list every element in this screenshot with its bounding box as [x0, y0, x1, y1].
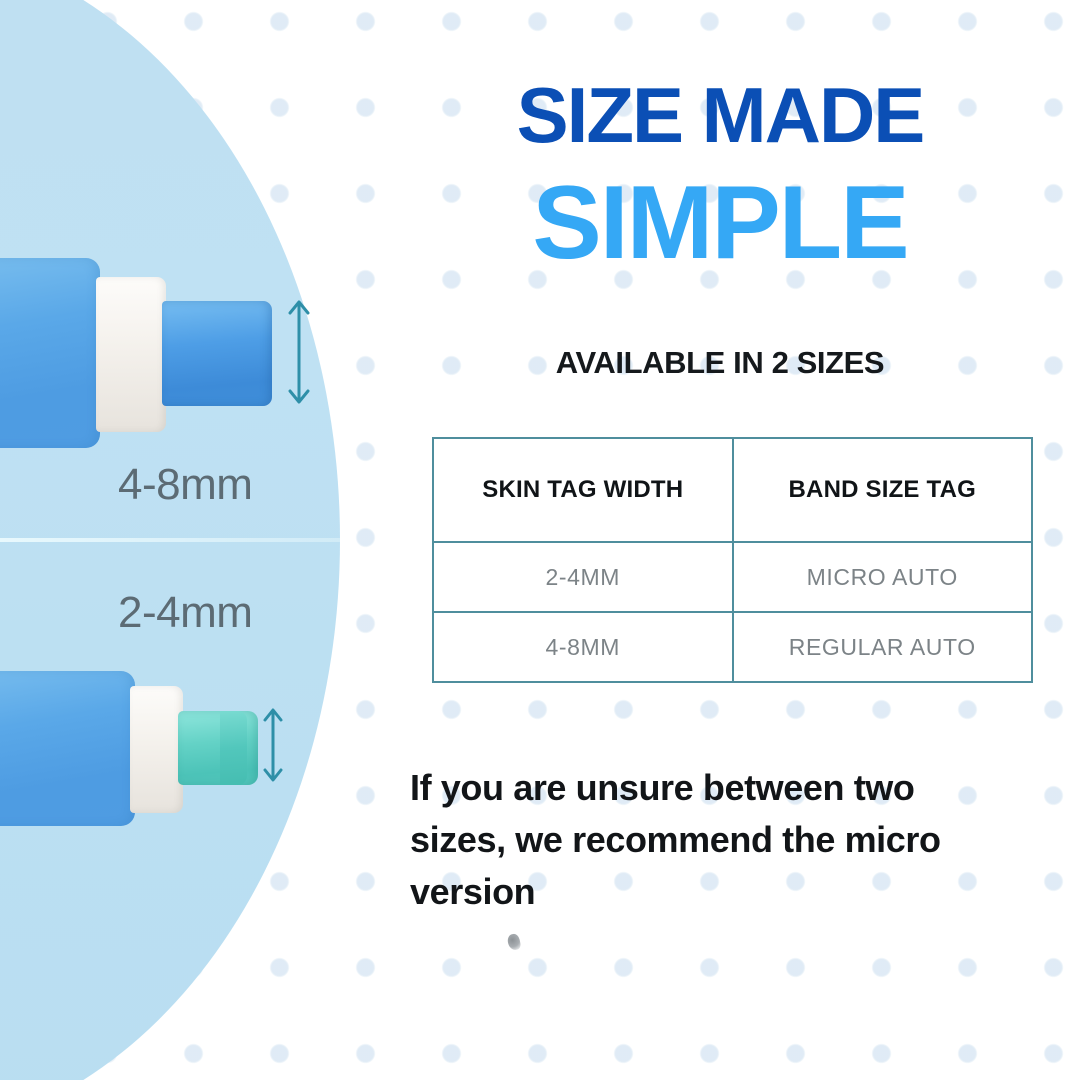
device-regular-body: [0, 258, 100, 448]
measure-arrow-regular: [283, 298, 315, 406]
cell-skin-tag-width: 2-4MM: [433, 542, 733, 612]
infographic-page: 4-8mm 2-4mm SIZE MADE SIMPLE AVAILABLE I…: [0, 0, 1080, 1080]
measure-arrow-micro: [258, 706, 288, 784]
device-micro-collar: [130, 686, 183, 813]
subheadline: AVAILABLE IN 2 SIZES: [400, 345, 1040, 381]
table-row: 2-4MM MICRO AUTO: [433, 542, 1032, 612]
image-speck-artifact: [506, 933, 521, 951]
cell-skin-tag-width: 4-8MM: [433, 612, 733, 682]
cell-band-size-tag: MICRO AUTO: [733, 542, 1033, 612]
device-micro-body: [0, 671, 135, 826]
device-micro-size-label: 2-4mm: [118, 588, 252, 638]
panel-divider: [0, 538, 340, 542]
headline-secondary: SIMPLE: [400, 174, 1040, 273]
device-micro: [0, 658, 300, 838]
device-micro-tip: [178, 711, 258, 785]
product-image-panel: [0, 0, 340, 1080]
headline-primary: SIZE MADE: [400, 78, 1040, 152]
recommendation-text: If you are unsure between two sizes, we …: [410, 762, 1010, 919]
table-row: 4-8MM REGULAR AUTO: [433, 612, 1032, 682]
device-regular-collar: [96, 277, 166, 432]
cell-band-size-tag: REGULAR AUTO: [733, 612, 1033, 682]
device-regular-size-label: 4-8mm: [118, 460, 252, 510]
size-chart-table: SKIN TAG WIDTH BAND SIZE TAG 2-4MM MICRO…: [432, 437, 1033, 683]
device-regular-tip: [162, 301, 272, 406]
table-header-row: SKIN TAG WIDTH BAND SIZE TAG: [433, 438, 1032, 542]
device-regular: [0, 253, 330, 453]
column-header-skin-tag-width: SKIN TAG WIDTH: [433, 438, 733, 542]
column-header-band-size-tag: BAND SIZE TAG: [733, 438, 1033, 542]
